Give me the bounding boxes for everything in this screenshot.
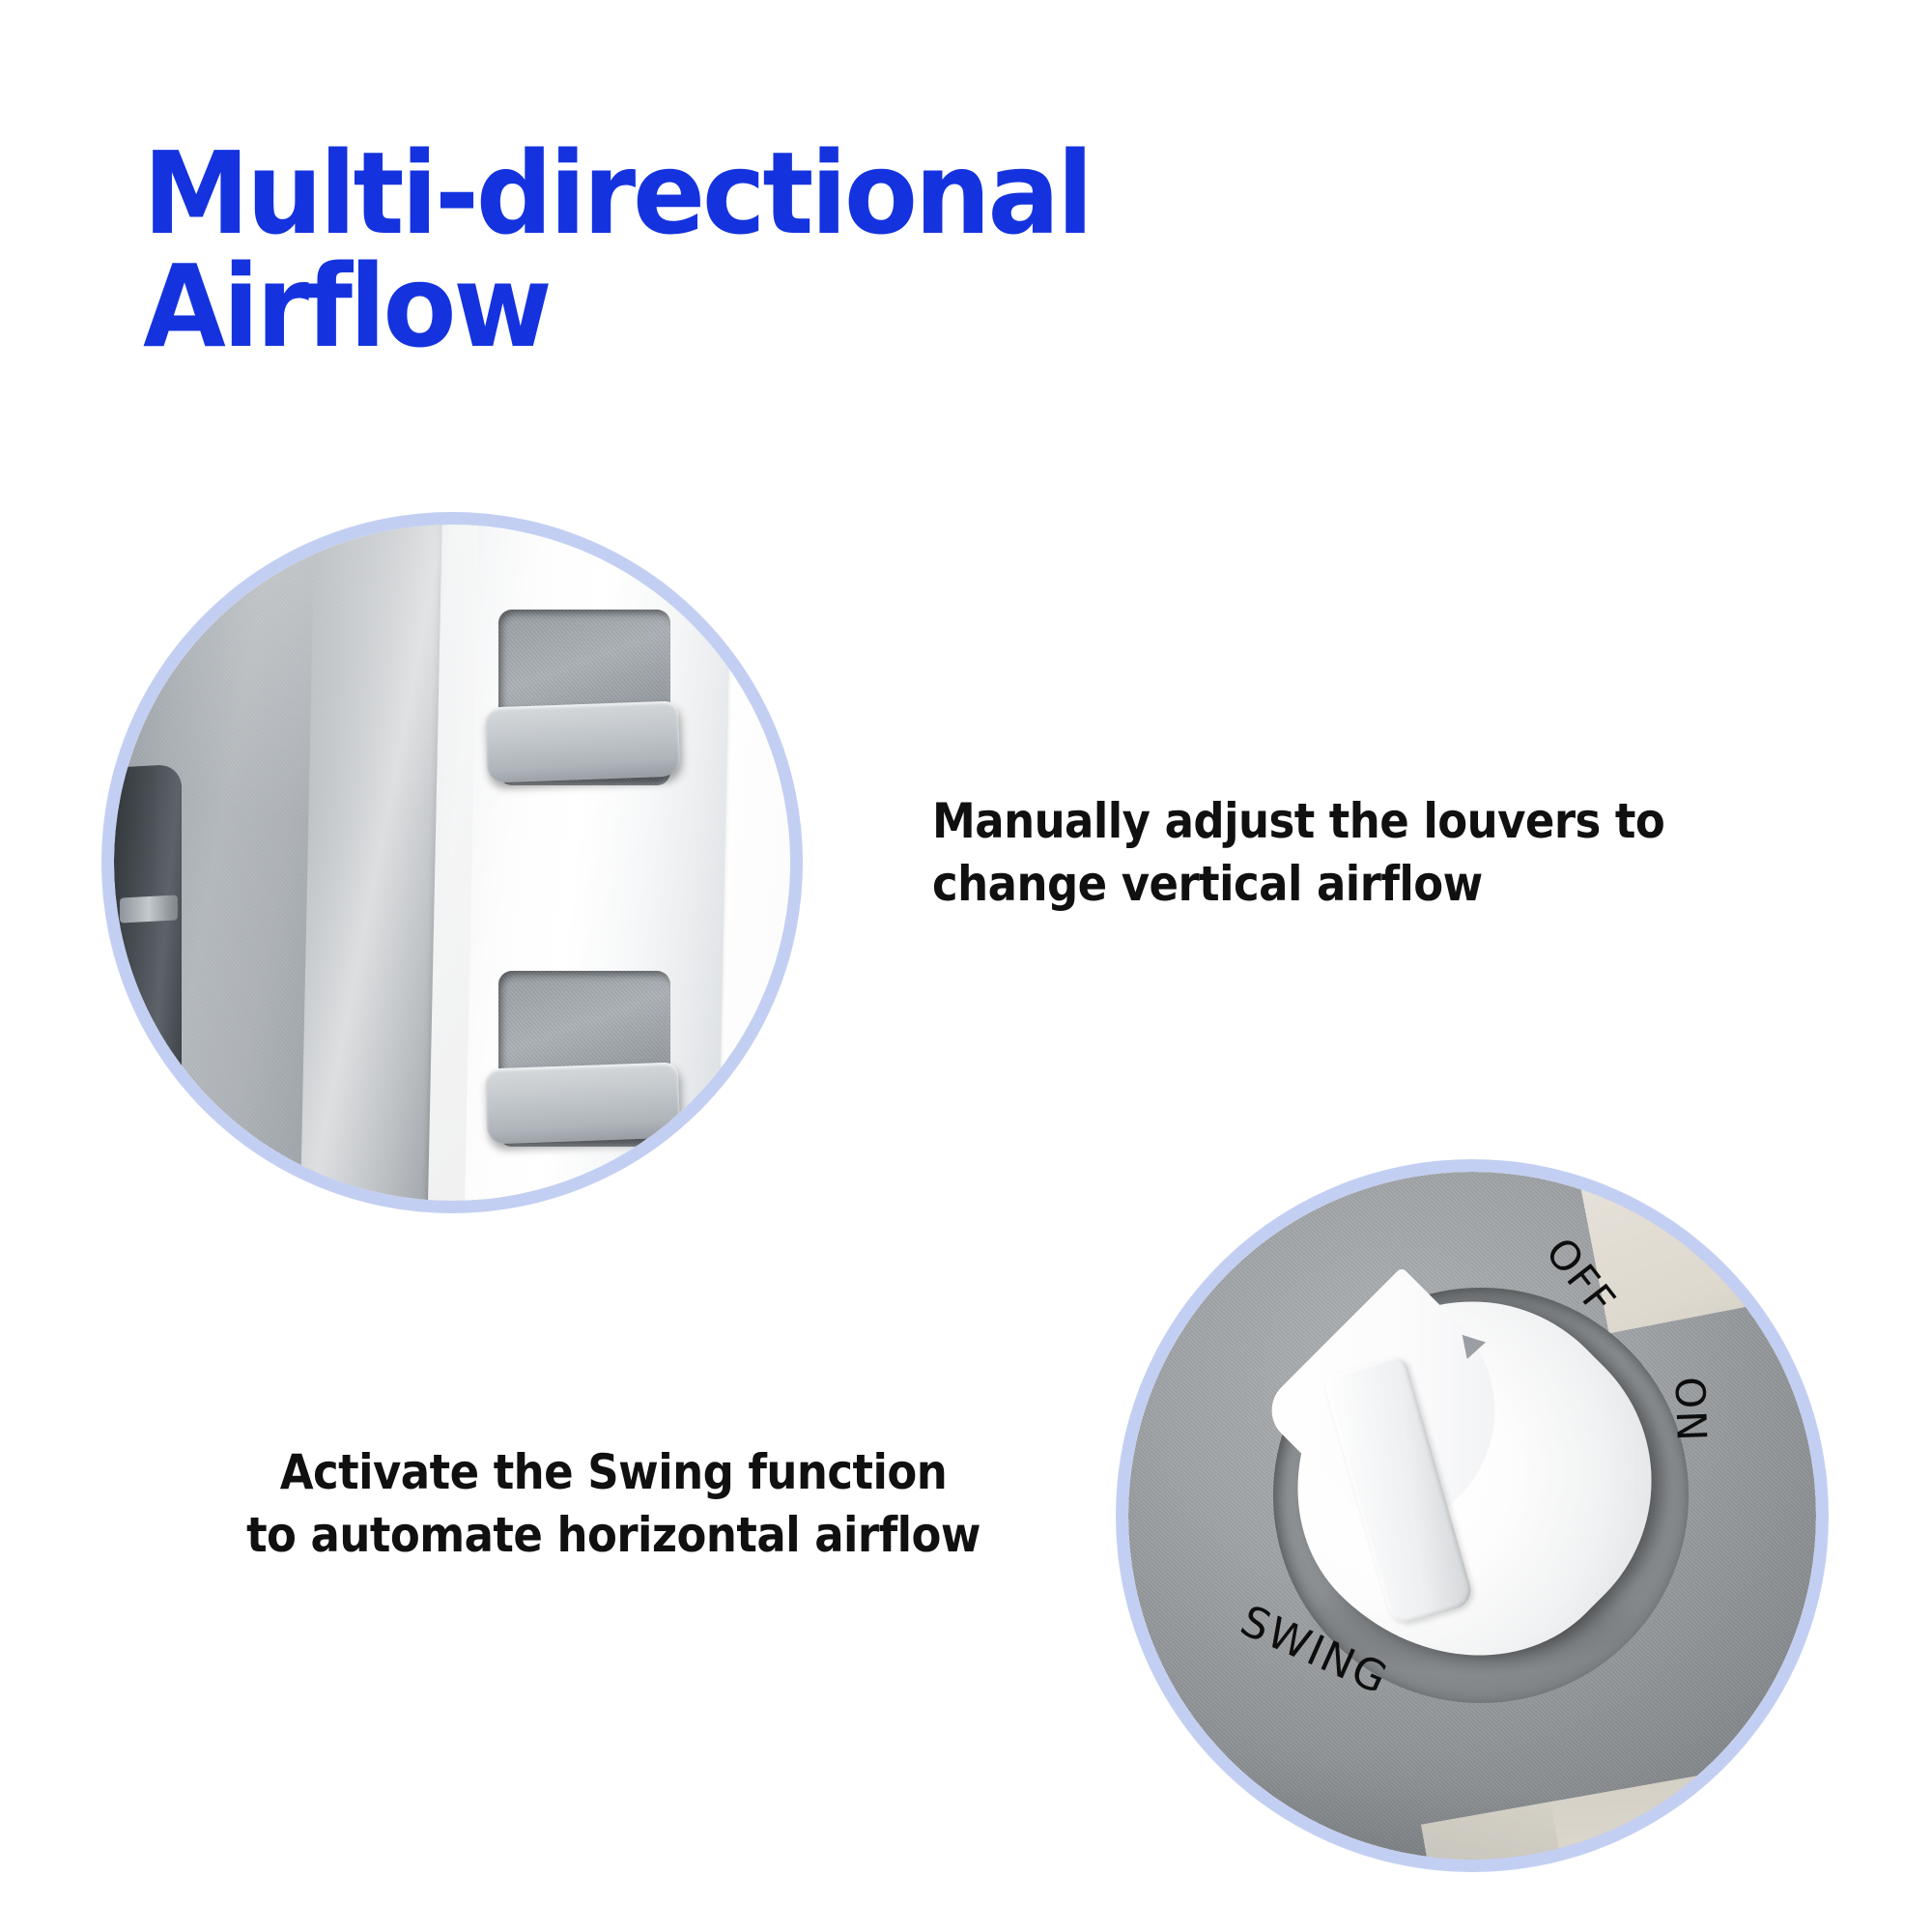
louver-lever-tab-bottom[interactable] — [485, 1063, 681, 1145]
swing-caption-line-1: Activate the Swing function — [244, 1441, 983, 1504]
page-title-line-1: Multi-directional — [143, 137, 1187, 250]
knob-photo-circle: OFF ON SWING — [1128, 1172, 1816, 1860]
louver-caption-line-2: change vertical airflow — [932, 853, 1715, 916]
page-title: Multi-directional Airflow — [143, 137, 1254, 363]
louver-photo — [114, 525, 790, 1201]
knob-label-on: ON — [1666, 1376, 1716, 1443]
louver-vent-highlight — [120, 895, 178, 923]
louver-photo-circle — [114, 525, 790, 1201]
louver-bezel-highlight — [298, 525, 480, 1201]
swing-caption: Activate the Swing function to automate … — [244, 1441, 983, 1567]
swing-caption-line-2: to automate horizontal airflow — [244, 1504, 983, 1567]
page-title-line-2: Airflow — [143, 250, 1187, 363]
infographic-page: Multi-directional Airflow Manually adjus… — [0, 0, 1932, 1932]
louver-caption-line-1: Manually adjust the louvers to — [932, 790, 1715, 853]
louver-vent-slot — [114, 764, 182, 1116]
louver-caption: Manually adjust the louvers to change ve… — [932, 790, 1715, 916]
louver-lever-tab-top[interactable] — [485, 701, 681, 783]
knob-photo: OFF ON SWING — [1128, 1172, 1816, 1860]
